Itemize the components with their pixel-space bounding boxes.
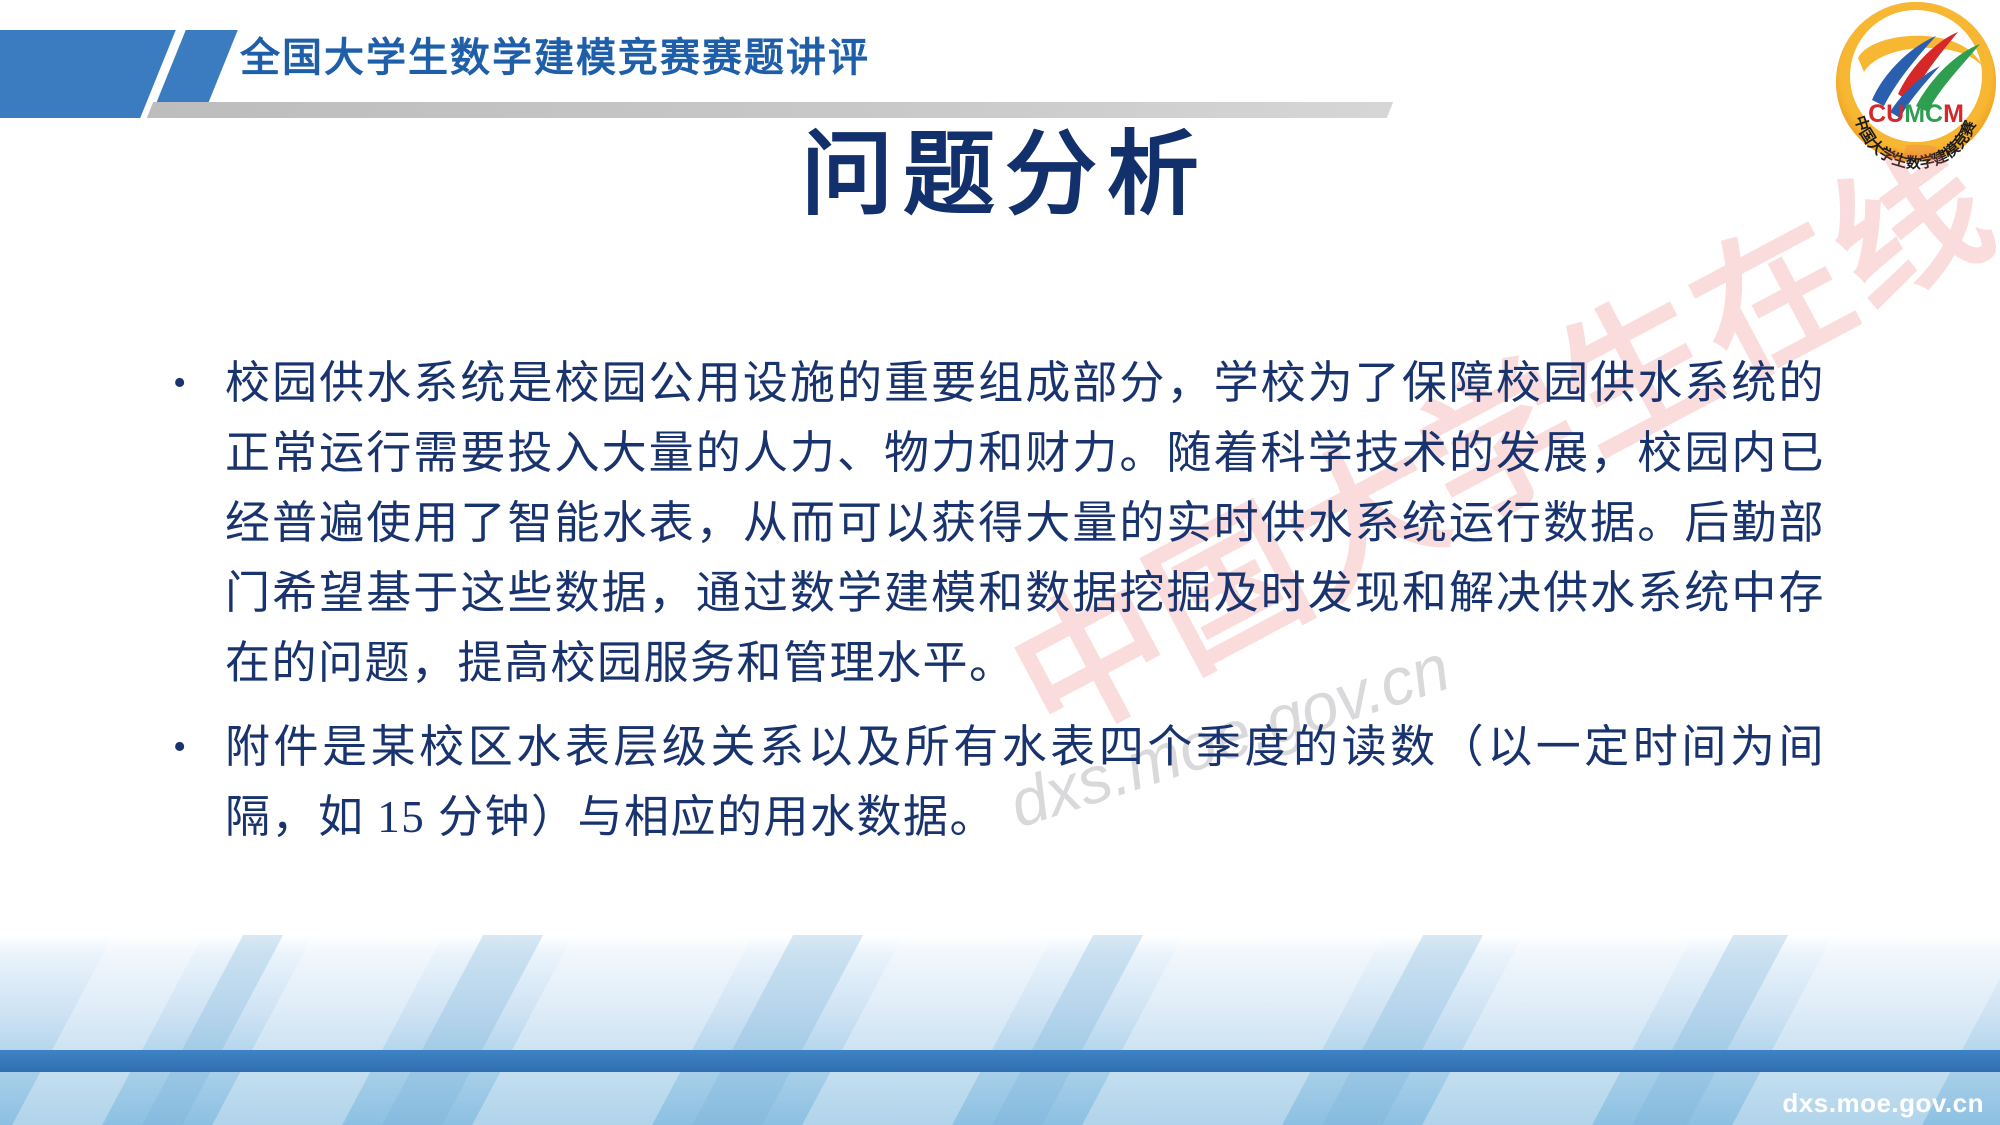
bullet-text-2: 附件是某校区水表层级关系以及所有水表四个季度的读数（以一定时间为间隔，如 15 … (225, 712, 1825, 852)
bullet-list: • 校园供水系统是校园公用设施的重要组成部分，学校为了保障校园供水系统的正常运行… (165, 348, 1825, 866)
list-item: • 附件是某校区水表层级关系以及所有水表四个季度的读数（以一定时间为间隔，如 1… (165, 712, 1825, 852)
bullet-text-1: 校园供水系统是校园公用设施的重要组成部分，学校为了保障校园供水系统的正常运行需要… (225, 348, 1825, 698)
slide-footer: dxs.moe.gov.cn (0, 935, 2000, 1125)
footer-stripe (0, 1050, 2000, 1072)
slide-canvas: 全国大学生数学建模竞赛赛题讲评 CUMCM (0, 0, 2000, 1125)
page-title: 问题分析 (0, 120, 2000, 230)
header-grey-rule (147, 102, 1393, 118)
footer-decorative-bands (0, 935, 2000, 1125)
header-title: 全国大学生数学建模竞赛赛题讲评 (240, 28, 870, 88)
slide-header: 全国大学生数学建模竞赛赛题讲评 (0, 0, 2000, 130)
bullet-marker: • (165, 348, 225, 418)
bullet-marker: • (165, 712, 225, 782)
footer-url: dxs.moe.gov.cn (1782, 1088, 1984, 1119)
list-item: • 校园供水系统是校园公用设施的重要组成部分，学校为了保障校园供水系统的正常运行… (165, 348, 1825, 698)
